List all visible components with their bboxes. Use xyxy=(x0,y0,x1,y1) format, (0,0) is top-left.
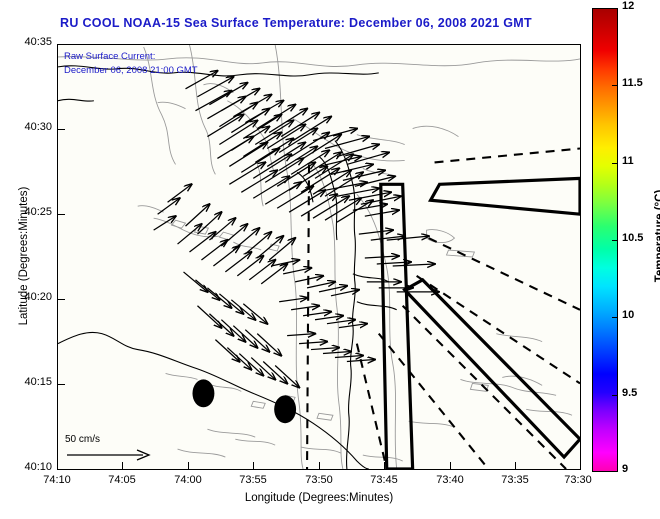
map-plot-area[interactable] xyxy=(57,44,581,470)
x-tick-label: 73:40 xyxy=(420,474,480,486)
right-arrow-icon xyxy=(63,447,159,463)
x-tick xyxy=(253,462,254,470)
x-tick-label: 73:35 xyxy=(485,474,545,486)
colorbar-tick xyxy=(612,395,618,396)
colorbar-tick-label: 12 xyxy=(622,0,634,12)
coastline xyxy=(58,66,397,469)
colorbar-tick xyxy=(612,8,618,9)
y-tick xyxy=(57,469,65,470)
x-tick xyxy=(450,462,451,470)
bathymetry-contours xyxy=(58,45,580,469)
y-tick xyxy=(57,44,65,45)
colorbar-tick-label: 9.5 xyxy=(622,387,637,399)
x-tick-label: 74:00 xyxy=(158,474,218,486)
x-tick xyxy=(188,462,189,470)
colorbar-tick-label: 10.5 xyxy=(622,232,643,244)
x-tick xyxy=(580,462,581,470)
x-tick-label: 74:10 xyxy=(27,474,87,486)
y-tick-label: 40:30 xyxy=(2,121,52,133)
colorbar-tick-label: 11 xyxy=(622,155,634,167)
y-tick xyxy=(57,299,65,300)
y-tick xyxy=(57,214,65,215)
colorbar-label: Temperature (°C) xyxy=(654,136,660,336)
current-annotation: Raw Surface Current: December 06, 2008 2… xyxy=(64,50,198,78)
map-graphics xyxy=(58,45,580,469)
x-tick xyxy=(515,462,516,470)
x-tick-label: 73:55 xyxy=(223,474,283,486)
colorbar-tick xyxy=(612,85,618,86)
colorbar-tick-label: 10 xyxy=(622,309,634,321)
y-axis-label: Latitude (Degrees:Minutes) xyxy=(18,146,30,366)
sst-map-figure: RU COOL NOAA-15 Sea Surface Temperature:… xyxy=(0,0,660,519)
x-tick-label: 73:45 xyxy=(354,474,414,486)
figure-title: RU COOL NOAA-15 Sea Surface Temperature:… xyxy=(0,16,592,30)
colorbar-tick-label: 11.5 xyxy=(622,77,643,89)
colorbar-tick-label: 9 xyxy=(622,463,628,475)
y-tick xyxy=(57,384,65,385)
colorbar-tick xyxy=(612,317,618,318)
vector-scale-label: 50 cm/s xyxy=(63,434,183,445)
x-tick xyxy=(384,462,385,470)
x-tick-label: 74:05 xyxy=(92,474,152,486)
x-axis-label: Longitude (Degrees:Minutes) xyxy=(57,492,581,504)
y-tick-label: 40:15 xyxy=(2,376,52,388)
radar-coverage-wedges xyxy=(381,178,580,469)
x-tick xyxy=(122,462,123,470)
y-tick-label: 40:35 xyxy=(2,36,52,48)
annotation-line-2: December 06, 2008 21:00 GMT xyxy=(64,64,198,78)
colorbar-tick xyxy=(612,163,618,164)
colorbar-tick xyxy=(612,471,618,472)
y-tick xyxy=(57,129,65,130)
y-tick-label: 40:10 xyxy=(2,461,52,473)
x-tick-label: 73:30 xyxy=(548,474,608,486)
annotation-line-1: Raw Surface Current: xyxy=(64,50,198,64)
colorbar-tick xyxy=(612,240,618,241)
x-tick-label: 73:50 xyxy=(289,474,349,486)
radar-station-markers xyxy=(192,379,296,423)
x-tick xyxy=(319,462,320,470)
